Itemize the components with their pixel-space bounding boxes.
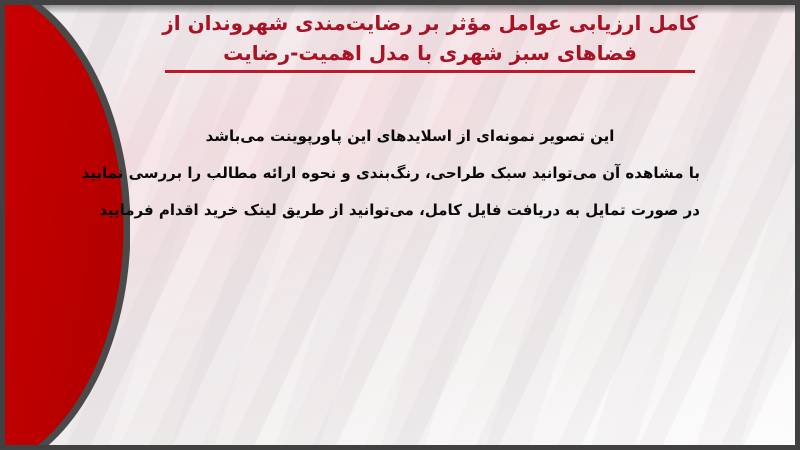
body-line-1: این تصویر نمونه‌ای از اسلایدهای این پاور… [120, 118, 700, 155]
title-underline-rule [165, 70, 695, 73]
slide-title: کامل ارزیابی عوامل مؤثر بر رضایت‌مندی شه… [120, 8, 740, 73]
presentation-slide: کامل ارزیابی عوامل مؤثر بر رضایت‌مندی شه… [0, 0, 800, 450]
title-line-2: فضاهای سبز شهری با مدل اهمیت-رضایت [120, 38, 740, 68]
body-line-3: در صورت تمایل به دریافت فایل کامل، می‌تو… [120, 192, 700, 229]
body-line-2: با مشاهده آن می‌توانید سبک طراحی، رنگ‌بن… [120, 155, 700, 192]
slide-body-text: این تصویر نمونه‌ای از اسلایدهای این پاور… [120, 118, 700, 229]
title-line-1: کامل ارزیابی عوامل مؤثر بر رضایت‌مندی شه… [120, 8, 740, 38]
